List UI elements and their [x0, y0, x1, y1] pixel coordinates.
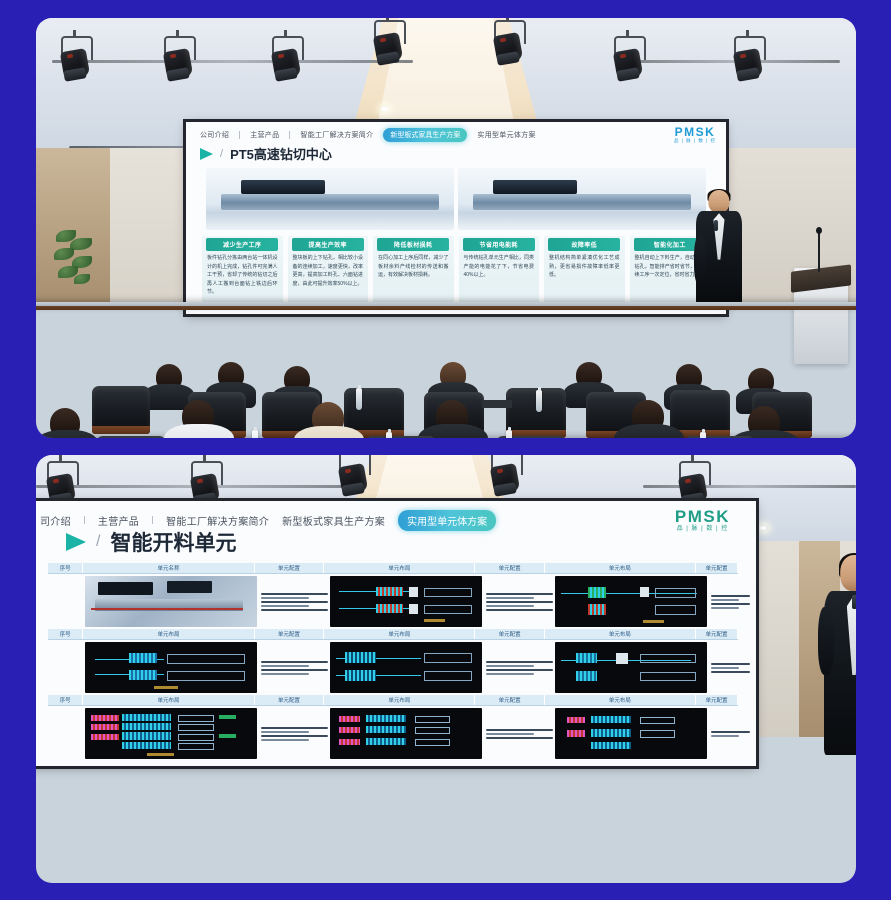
cad-diagram	[555, 576, 707, 627]
slide-title-1: PT5高速钻切中心	[230, 144, 332, 163]
nav-divider	[239, 131, 240, 139]
col-header-1: 单元配置	[255, 629, 324, 639]
legend-block	[484, 576, 553, 627]
nav-item-3-active[interactable]: 新型板式家具生产方案	[383, 128, 467, 142]
presenter-head	[840, 555, 856, 591]
poster-canvas: 公司介绍 主营产品 智能工厂解决方案简介 新型板式家具生产方案 实用型单元体方案…	[0, 0, 891, 900]
cad-diagram	[330, 576, 482, 627]
stage-light-icon	[488, 455, 522, 497]
pmsk-logo-1: PMSK 品 | 脉 | 数 | 控	[674, 126, 716, 144]
audience-top	[36, 186, 856, 438]
nav-item-2[interactable]: 智能工厂解决方案简介	[166, 513, 269, 528]
pmsk-logo-subtext: 品 | 脉 | 数 | 控	[674, 139, 716, 144]
nav-item-2[interactable]: 智能工厂解决方案简介	[300, 130, 373, 140]
title-slash: /	[220, 148, 223, 160]
chair	[96, 436, 166, 438]
stage-light-icon	[58, 36, 92, 82]
legend-block	[259, 576, 328, 627]
stage-light-icon	[161, 36, 195, 82]
table-row: 序号 单元名称 单元配置 单元布局 单元配置 单元布局 单元配置	[48, 563, 738, 627]
table-cell-row	[48, 574, 738, 627]
chair	[684, 436, 754, 438]
chair	[92, 386, 150, 434]
microphone-icon	[852, 595, 856, 609]
legend-block	[709, 576, 750, 627]
slide-title-2: 智能开料单元	[110, 527, 236, 557]
col-header-4: 单元布局	[545, 563, 696, 573]
nav-item-4-active[interactable]: 实用型单元体方案	[398, 510, 496, 531]
col-header-1: 单元配置	[255, 563, 324, 573]
water-bottle	[252, 430, 258, 438]
photo-top: 公司介绍 主营产品 智能工厂解决方案简介 新型板式家具生产方案 实用型单元体方案…	[36, 18, 856, 438]
pmsk-logo-wordmark: PMSK	[675, 508, 730, 525]
col-header-3: 单元配置	[475, 563, 544, 573]
nav-divider	[84, 516, 85, 524]
water-bottle	[536, 390, 542, 412]
unit-photo-cell	[85, 576, 258, 627]
water-bottle	[700, 432, 706, 438]
nav-item-1[interactable]: 主营产品	[98, 513, 139, 528]
table-header-row: 序号 单元布局 单元配置 单元布局 单元配置 单元布局 单元配置	[48, 629, 738, 640]
table-header-row: 序号 单元名称 单元配置 单元布局 单元配置 单元布局 单元配置	[48, 563, 738, 574]
col-header-2: 单元布局	[324, 563, 475, 573]
stage-light-icon	[491, 20, 525, 66]
arrow-icon	[66, 533, 86, 551]
pmsk-logo-subtext: 品 | 脉 | 数 | 控	[677, 526, 729, 532]
col-header-index: 序号	[48, 629, 83, 639]
photo-bottom: 司介绍 主营产品 智能工厂解决方案简介 新型板式家具生产方案 实用型单元体方案 …	[36, 455, 856, 883]
pmsk-logo-wordmark: PMSK	[675, 126, 716, 138]
chair	[366, 436, 436, 438]
slide-title-row-2: / 智能开料单元	[66, 527, 236, 557]
col-header-0: 单元名称	[83, 563, 255, 573]
attendee-shoulders	[36, 430, 98, 438]
nav-divider	[152, 516, 153, 524]
stage-light-icon	[269, 36, 303, 82]
stage-light-icon	[611, 36, 645, 82]
arrow-icon	[200, 148, 213, 160]
laptop	[482, 400, 512, 408]
slide-nav-1: 公司介绍 主营产品 智能工厂解决方案简介 新型板式家具生产方案 实用型单元体方案…	[186, 122, 726, 146]
col-header-index: 序号	[48, 563, 83, 573]
water-bottle	[386, 432, 392, 438]
light-rail-right	[643, 485, 856, 488]
nav-item-1[interactable]: 主营产品	[250, 130, 279, 140]
water-bottle	[356, 388, 362, 410]
stage-light-icon	[731, 36, 765, 82]
nav-item-0[interactable]: 公司介绍	[200, 130, 229, 140]
col-header-4: 单元布局	[545, 629, 696, 639]
audience-bottom	[36, 652, 856, 883]
col-header-0: 单元布局	[83, 629, 255, 639]
downlight-icon	[758, 525, 768, 531]
col-header-5: 单元配置	[696, 629, 738, 639]
col-header-2: 单元布局	[324, 629, 475, 639]
pmsk-logo-2: PMSK 品 | 脉 | 数 | 控	[675, 508, 730, 532]
light-rail-left	[52, 60, 413, 63]
title-slash: /	[96, 533, 100, 551]
desk-row-far	[36, 302, 856, 310]
col-header-5: 单元配置	[696, 563, 738, 573]
stage-light-icon	[371, 20, 405, 66]
nav-item-0[interactable]: 司介绍	[40, 513, 71, 528]
nav-item-4[interactable]: 实用型单元体方案	[477, 130, 535, 140]
slide-title-row-1: / PT5高速钻切中心	[200, 144, 332, 163]
stage-light-icon	[336, 455, 370, 497]
col-header-3: 单元配置	[475, 629, 544, 639]
water-bottle	[506, 430, 512, 438]
nav-divider	[289, 131, 290, 139]
nav-item-3[interactable]: 新型板式家具生产方案	[282, 513, 385, 528]
